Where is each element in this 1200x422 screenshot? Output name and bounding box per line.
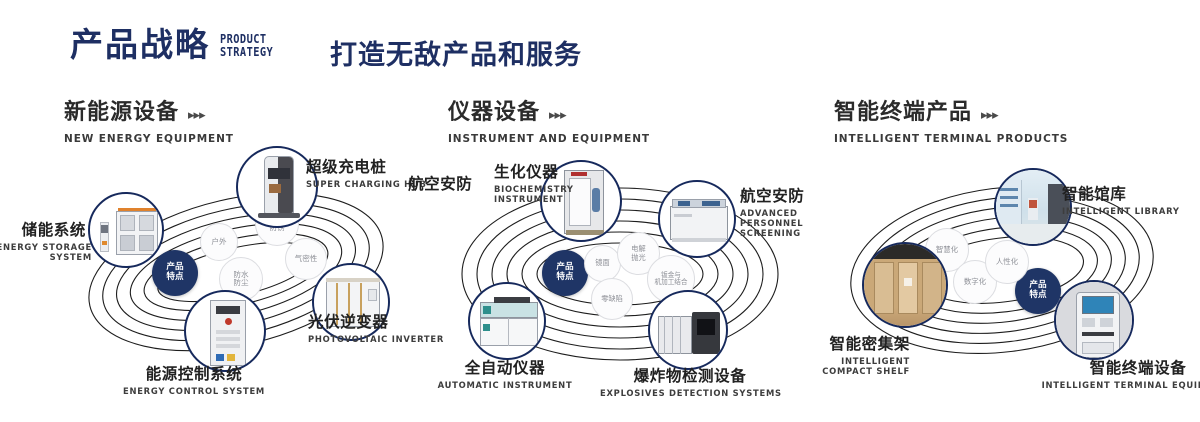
section-title-en: INTELLIGENT TERMINAL PRODUCTS	[834, 133, 1068, 145]
caption-en: ENERGY STORAGE SYSTEM	[0, 242, 92, 262]
caption-intelligent-library: 智能馆库 INTELLIGENT LIBRARY	[1062, 182, 1180, 216]
caption-cn: 全自动仪器	[415, 356, 595, 378]
caption-en: BIOCHEMISTRY INSTRUMENT	[494, 184, 590, 204]
caption-en: ENERGY CONTROL SYSTEM	[84, 386, 304, 396]
caption-intelligent-terminal-equipment: 智能终端设备 INTELLIGENT TERMINAL EQUIPMENT	[1038, 356, 1200, 390]
energy-control-system-icon	[186, 292, 264, 370]
node-automatic-instrument[interactable]	[468, 282, 546, 360]
chevron-right-icon: ▸▸▸	[981, 108, 998, 121]
cluster-intelligent-terminal: 产品 特点 智慧化 数字化 人性化 智能馆库	[810, 150, 1200, 400]
caption-energy-control-system: 能源控制系统 ENERGY CONTROL SYSTEM	[84, 362, 304, 396]
cluster-new-energy: 产品 特点 户外 防腐 防锈 防水 防尘 气密性	[40, 150, 440, 400]
section-title-cn: 新能源设备	[64, 94, 179, 126]
intelligent-compact-shelf-icon	[864, 244, 946, 326]
caption-cn: 能源控制系统	[84, 362, 304, 384]
super-charging-hub-icon	[238, 148, 316, 226]
node-intelligent-terminal-equipment[interactable]	[1054, 280, 1134, 360]
caption-cn: 储能系统	[0, 218, 86, 240]
feature-center-badge: 产品 特点	[542, 250, 588, 296]
node-advanced-personnel-screening[interactable]	[658, 180, 736, 258]
caption-intelligent-compact-shelf: 智能密集架 INTELLIGENT COMPACT SHELF	[750, 332, 910, 376]
caption-biochemistry-instrument: 生化仪器 BIOCHEMISTRY INSTRUMENT	[494, 160, 590, 204]
feature-bubble-outdoor: 户外	[200, 223, 238, 261]
chevron-right-icon: ▸▸▸	[549, 108, 566, 121]
caption-en: INTELLIGENT COMPACT SHELF	[790, 356, 910, 376]
product-strategy-infographic: 产品战略 PRODUCT STRATEGY 打造无敌产品和服务 新能源设备 ▸▸…	[0, 0, 1200, 422]
section-title-en: NEW ENERGY EQUIPMENT	[64, 133, 234, 145]
caption-energy-storage-system: 储能系统 ENERGY STORAGE SYSTEM	[0, 218, 86, 262]
caption-aviation-security: 航空安防	[408, 172, 472, 194]
section-heading-new-energy: 新能源设备 ▸▸▸ NEW ENERGY EQUIPMENT	[64, 94, 234, 145]
explosives-detection-systems-icon	[650, 292, 726, 368]
energy-storage-system-icon	[90, 194, 162, 266]
caption-en: INTELLIGENT LIBRARY	[1062, 206, 1180, 216]
section-heading-intelligent-terminal: 智能终端产品 ▸▸▸ INTELLIGENT TERMINAL PRODUCTS	[834, 94, 1068, 145]
caption-cn: 智能馆库	[1062, 182, 1180, 204]
page-title-cn: 产品战略	[70, 28, 210, 61]
feature-bubble-zero-defect: 零缺陷	[591, 278, 633, 320]
caption-en: INTELLIGENT TERMINAL EQUIPMENT	[1038, 380, 1200, 390]
caption-automatic-instrument: 全自动仪器 AUTOMATIC INSTRUMENT	[415, 356, 595, 390]
caption-cn: 智能密集架	[750, 332, 910, 354]
feature-bubble-mirror: 镜面	[584, 245, 621, 282]
automatic-instrument-icon	[470, 284, 544, 358]
intelligent-library-icon	[996, 170, 1070, 244]
node-explosives-detection-systems[interactable]	[648, 290, 728, 370]
chevron-right-icon: ▸▸▸	[188, 108, 205, 121]
section-title-cn: 仪器设备	[448, 94, 540, 126]
intelligent-terminal-equipment-icon	[1056, 282, 1132, 358]
node-intelligent-compact-shelf[interactable]	[862, 242, 948, 328]
section-heading-instrument: 仪器设备 ▸▸▸ INSTRUMENT AND EQUIPMENT	[448, 94, 650, 145]
page-subtitle: 打造无敌产品和服务	[330, 33, 582, 72]
node-intelligent-library[interactable]	[994, 168, 1072, 246]
node-energy-control-system[interactable]	[184, 290, 266, 372]
caption-cn: 智能终端设备	[1038, 356, 1200, 378]
caption-en: EXPLOSIVES DETECTION SYSTEMS	[600, 388, 780, 398]
section-title-en: INSTRUMENT AND EQUIPMENT	[448, 133, 650, 145]
section-title-cn: 智能终端产品	[834, 94, 972, 126]
caption-cn: 生化仪器	[494, 160, 590, 182]
caption-en: AUTOMATIC INSTRUMENT	[415, 380, 595, 390]
page-title-en-line2: STRATEGY	[220, 46, 273, 59]
page-title-en: PRODUCT STRATEGY	[220, 30, 273, 59]
feature-bubble-humanized: 人性化	[985, 240, 1029, 284]
node-energy-storage-system[interactable]	[88, 192, 164, 268]
caption-cn: 航空安防	[408, 172, 472, 194]
advanced-personnel-screening-icon	[660, 182, 734, 256]
page-title: 产品战略 PRODUCT STRATEGY	[70, 28, 282, 61]
